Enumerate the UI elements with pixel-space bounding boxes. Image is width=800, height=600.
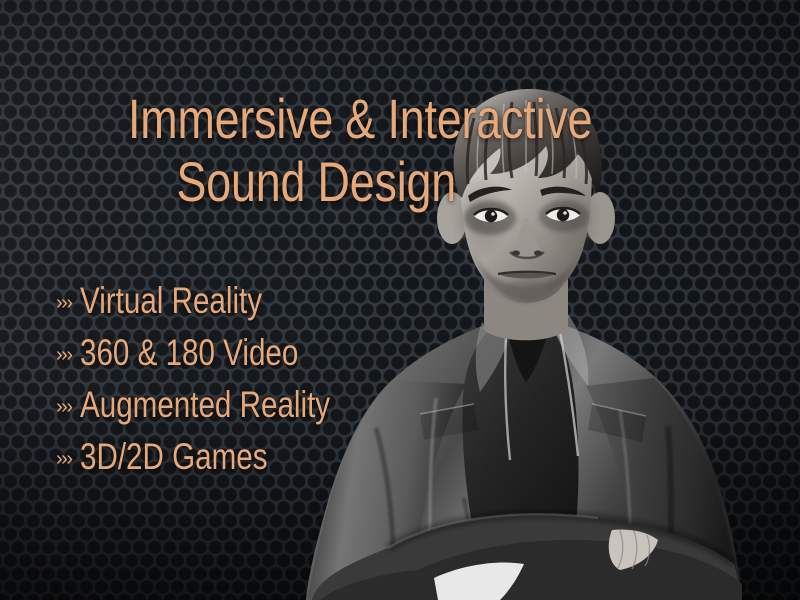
eye-highlight-left bbox=[491, 212, 495, 216]
list-item: ››› Virtual Reality bbox=[56, 282, 456, 320]
slide-canvas: Immersive & Interactive Sound Design ›››… bbox=[0, 0, 800, 600]
title-line-1: Immersive & Interactive bbox=[128, 88, 456, 151]
chevron-triple-icon: ››› bbox=[56, 293, 71, 313]
eye-highlight-right bbox=[563, 211, 567, 215]
chevron-triple-icon: ››› bbox=[56, 397, 71, 417]
list-item: ››› Augmented Reality bbox=[56, 386, 456, 424]
bullet-label-3d-2d-games: 3D/2D Games bbox=[80, 438, 268, 475]
nostril-left bbox=[512, 250, 520, 255]
iris-left bbox=[485, 210, 497, 222]
iris-right bbox=[557, 209, 569, 221]
bullet-list: ››› Virtual Reality ››› 360 & 180 Video … bbox=[56, 282, 456, 490]
list-item: ››› 3D/2D Games bbox=[56, 438, 456, 476]
list-item: ››› 360 & 180 Video bbox=[56, 334, 456, 372]
bullet-label-virtual-reality: Virtual Reality bbox=[80, 282, 262, 319]
chevron-triple-icon: ››› bbox=[56, 345, 71, 365]
nostril-right bbox=[534, 250, 542, 255]
title-line-2: Sound Design bbox=[128, 151, 456, 214]
bullet-label-360-180-video: 360 & 180 Video bbox=[80, 334, 298, 371]
chin-shadow bbox=[505, 279, 549, 301]
chevron-triple-icon: ››› bbox=[56, 449, 71, 469]
slide-title: Immersive & Interactive Sound Design bbox=[128, 88, 456, 213]
bullet-label-augmented-reality: Augmented Reality bbox=[80, 386, 330, 423]
text-layer: Immersive & Interactive Sound Design ›››… bbox=[0, 0, 470, 600]
